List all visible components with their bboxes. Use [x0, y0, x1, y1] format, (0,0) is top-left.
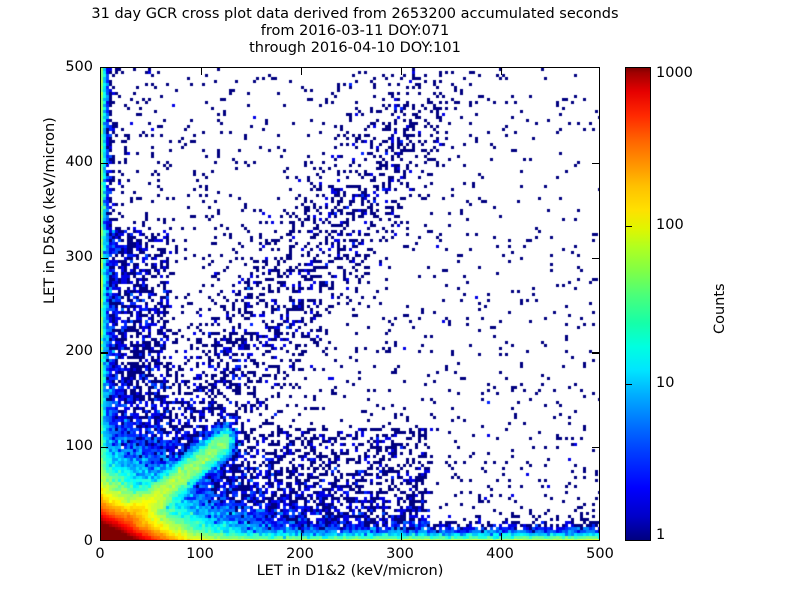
chart-title-line-1: 31 day GCR cross plot data derived from …: [0, 6, 710, 23]
x-tick-label-500: 500: [586, 546, 614, 562]
y-tick-right-200: [592, 352, 599, 353]
chart-title: 31 day GCR cross plot data derived from …: [0, 6, 710, 57]
y-tick-label-0: 0: [55, 533, 93, 549]
x-axis-label: LET in D1&2 (keV/micron): [100, 563, 600, 579]
colorbar-tick-label-1: 1: [656, 527, 665, 543]
colorbar-label: Counts: [712, 283, 728, 334]
y-tick-right-300: [592, 258, 599, 259]
x-tick-100: [201, 533, 202, 540]
colorbar-tick-10: [626, 384, 632, 385]
chart-title-line-3: through 2016-04-10 DOY:101: [0, 40, 710, 57]
colorbar: [625, 67, 651, 541]
colorbar-tick-label-100: 100: [656, 217, 684, 233]
y-tick-100: [101, 447, 108, 448]
colorbar-tick-label-1000: 1000: [656, 65, 693, 81]
x-tick-top-100: [201, 68, 202, 75]
x-tick-label-400: 400: [486, 546, 514, 562]
y-tick-label-500: 500: [55, 59, 93, 75]
y-tick-200: [101, 352, 108, 353]
y-tick-label-100: 100: [55, 438, 93, 454]
scatter-heatmap-canvas: [101, 68, 600, 541]
y-tick-400: [101, 163, 108, 164]
x-tick-400: [501, 533, 502, 540]
y-axis-label: LET in D5&6 (keV/micron): [42, 117, 58, 304]
x-tick-label-0: 0: [95, 546, 104, 562]
x-tick-label-200: 200: [286, 546, 314, 562]
y-tick-right-100: [592, 447, 599, 448]
chart-title-line-2: from 2016-03-11 DOY:071: [0, 23, 710, 40]
y-tick-label-200: 200: [55, 343, 93, 359]
x-tick-top-300: [401, 68, 402, 75]
y-tick-label-300: 300: [55, 249, 93, 265]
x-tick-top-200: [301, 68, 302, 75]
x-tick-top-400: [501, 68, 502, 75]
colorbar-tick-label-10: 10: [656, 375, 674, 391]
x-tick-label-300: 300: [386, 546, 414, 562]
colorbar-tick-100: [626, 226, 632, 227]
y-tick-label-400: 400: [55, 154, 93, 170]
gcr-cross-plot-figure: 31 day GCR cross plot data derived from …: [0, 0, 800, 600]
x-tick-label-100: 100: [186, 546, 214, 562]
x-tick-200: [301, 533, 302, 540]
y-tick-right-400: [592, 163, 599, 164]
y-tick-300: [101, 258, 108, 259]
plot-area: [100, 67, 600, 541]
x-tick-300: [401, 533, 402, 540]
